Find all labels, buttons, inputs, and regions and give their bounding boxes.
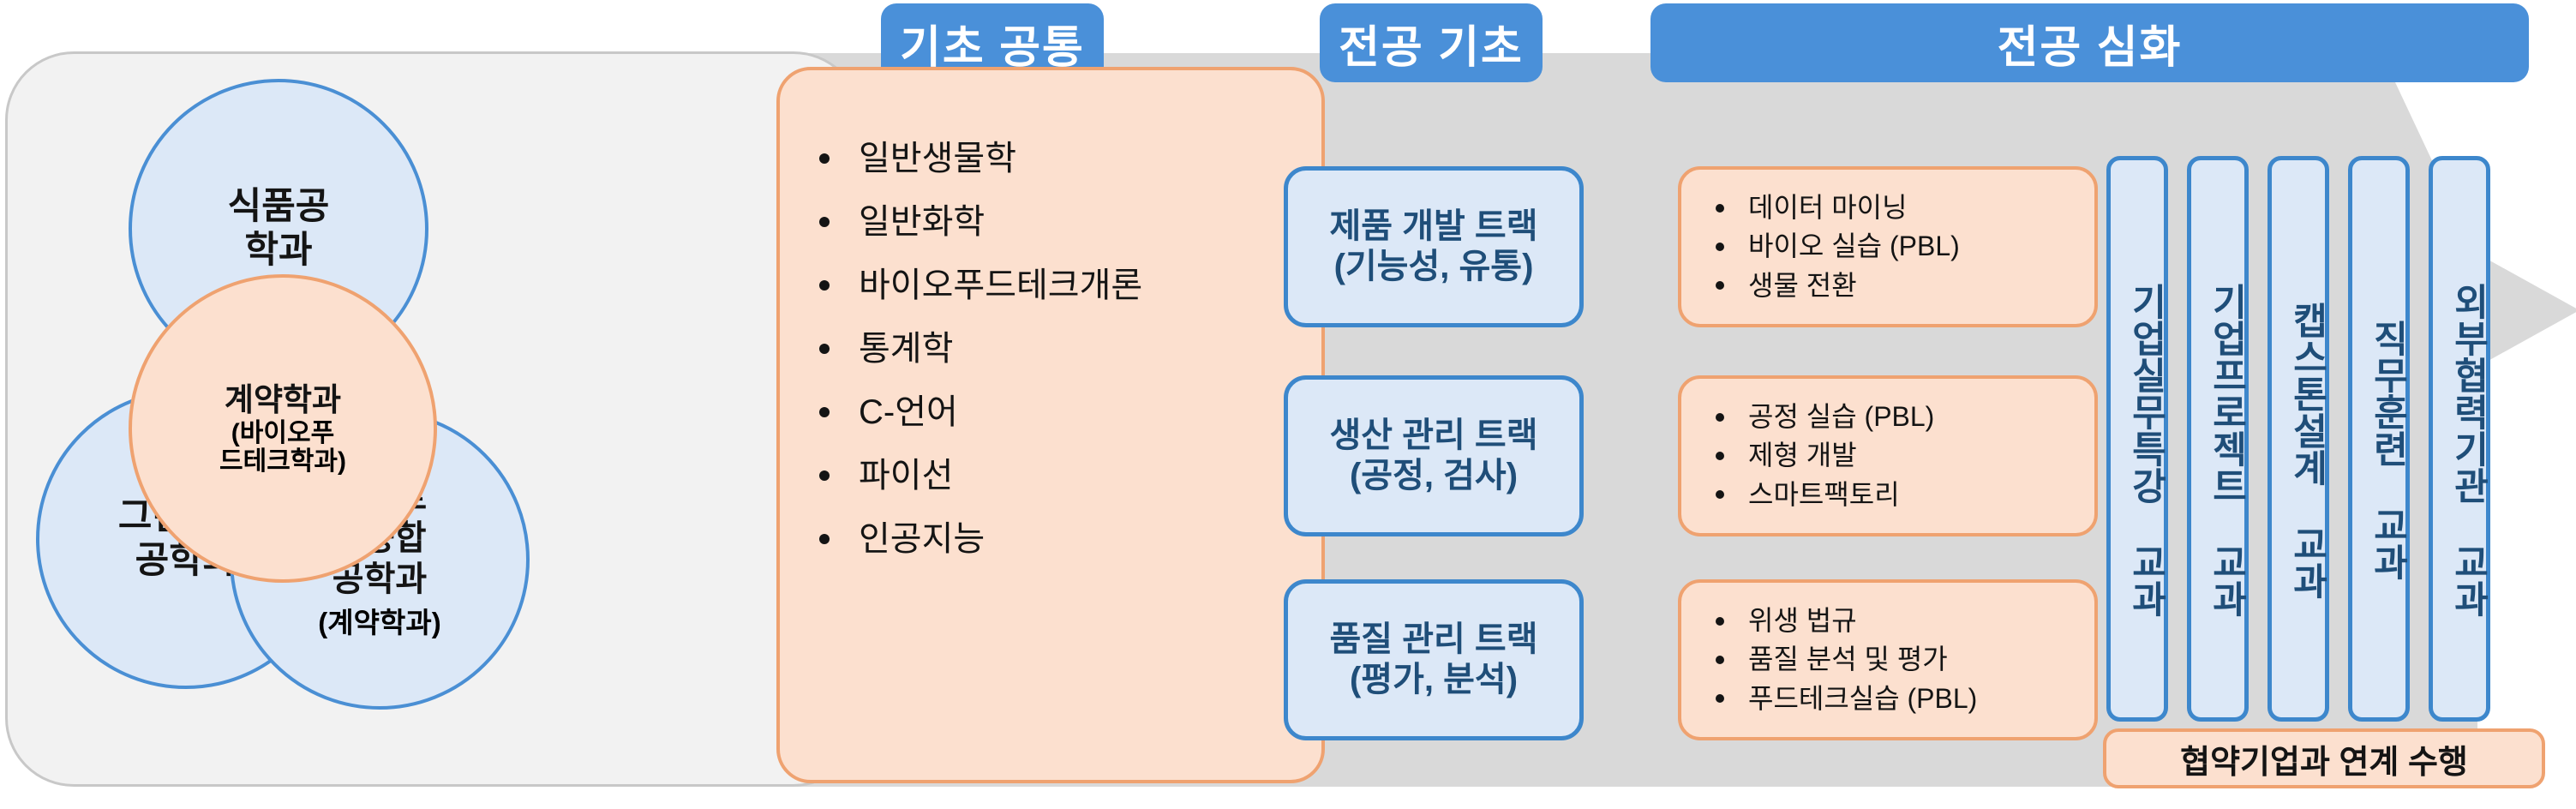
pillar-suffix: 교과	[2449, 543, 2486, 617]
pillar-corporate-practice-lecture[interactable]: 기업실무특강 교과	[2106, 156, 2168, 722]
pillar-suffix: 교과	[2369, 506, 2405, 580]
course-group-production-management: 공정 실습 (PBL) 제형 개발 스마트팩토리	[1678, 375, 2098, 536]
track-title: 생산 관리 트랙	[1329, 416, 1537, 456]
department-food-line1: 식품공	[228, 185, 330, 229]
department-food-line2: 학과	[228, 229, 330, 273]
list-item: 푸드테크실습 (PBL)	[1748, 680, 1977, 718]
track-scope: (공정, 검사)	[1350, 456, 1518, 496]
department-circle-contract[interactable]: 계약학과 (바이오푸 드테크학과)	[129, 274, 437, 583]
track-box-production-management[interactable]: 생산 관리 트랙 (공정, 검사)	[1284, 375, 1584, 536]
list-item: 생물 전환	[1748, 267, 1960, 305]
diagram-canvas: 식품공 학과 그린화학 공학과 스마트 IT융합 공학과 (계약학과) 계약학과…	[0, 0, 2576, 809]
list-item: 스마트팩토리	[1748, 476, 1934, 514]
pillar-capstone-design[interactable]: 캡스톤설계 교과	[2267, 156, 2329, 722]
course-list: 위생 법규 품질 분석 및 평가 푸드테크실습 (PBL)	[1681, 602, 1977, 718]
list-item: 일반생물학	[859, 127, 1321, 190]
tab-major-advanced[interactable]: 전공 심화	[1650, 3, 2529, 82]
track-title: 품질 관리 트랙	[1329, 620, 1537, 660]
course-list: 데이터 마이닝 바이오 실습 (PBL) 생물 전환	[1681, 189, 1960, 305]
course-list: 공정 실습 (PBL) 제형 개발 스마트팩토리	[1681, 398, 1934, 514]
tab-major-basic[interactable]: 전공 기초	[1320, 3, 1543, 82]
list-item: 통계학	[859, 317, 1321, 381]
pillar-title: 외부협력기관	[2449, 283, 2486, 504]
list-item: 품질 분석 및 평가	[1748, 640, 1977, 679]
pillar-corporate-project[interactable]: 기업프로젝트 교과	[2187, 156, 2249, 722]
list-item: 데이터 마이닝	[1748, 189, 1960, 227]
pillar-external-partner-institution[interactable]: 외부협력기관 교과	[2429, 156, 2490, 722]
track-title: 제품 개발 트랙	[1329, 207, 1537, 247]
track-box-quality-management[interactable]: 품질 관리 트랙 (평가, 분석)	[1284, 579, 1584, 740]
pillar-suffix: 교과	[2288, 525, 2325, 599]
list-item: 일반화학	[859, 190, 1321, 254]
track-scope: (기능성, 유통)	[1334, 247, 1534, 287]
department-center-sub2: 드테크학과)	[219, 447, 346, 476]
common-courses-panel: 일반생물학 일반화학 바이오푸드테크개론 통계학 C-언어 파이선 인공지능	[776, 67, 1325, 783]
list-item: C-언어	[859, 381, 1321, 444]
department-center-line1: 계약학과	[219, 381, 346, 419]
pillar-job-training[interactable]: 직무훈련 교과	[2348, 156, 2410, 722]
list-item: 제형 개발	[1748, 436, 1934, 475]
list-item: 위생 법규	[1748, 602, 1977, 640]
pillar-title: 기업프로젝트	[2208, 283, 2244, 504]
course-group-product-development: 데이터 마이닝 바이오 실습 (PBL) 생물 전환	[1678, 166, 2098, 327]
pillar-title: 캡스톤설계	[2288, 302, 2325, 486]
list-item: 공정 실습 (PBL)	[1748, 398, 1934, 436]
list-item: 인공지능	[859, 507, 1321, 571]
list-item: 파이선	[859, 444, 1321, 507]
list-item: 바이오 실습 (PBL)	[1748, 227, 1960, 266]
pillar-suffix: 교과	[2208, 543, 2244, 617]
track-scope: (평가, 분석)	[1350, 660, 1518, 700]
list-item: 바이오푸드테크개론	[859, 254, 1321, 317]
pillar-title: 기업실무특강	[2127, 283, 2164, 504]
department-smart-sub: (계약학과)	[318, 600, 440, 641]
common-courses-list: 일반생물학 일반화학 바이오푸드테크개론 통계학 C-언어 파이선 인공지능	[780, 127, 1321, 571]
pillar-title: 직무훈련	[2369, 320, 2405, 467]
pillar-suffix: 교과	[2127, 543, 2164, 617]
department-center-sub1: (바이오푸	[219, 419, 346, 447]
partner-company-banner: 협약기업과 연계 수행	[2103, 728, 2545, 788]
track-box-product-development[interactable]: 제품 개발 트랙 (기능성, 유통)	[1284, 166, 1584, 327]
course-group-quality-management: 위생 법규 품질 분석 및 평가 푸드테크실습 (PBL)	[1678, 579, 2098, 740]
